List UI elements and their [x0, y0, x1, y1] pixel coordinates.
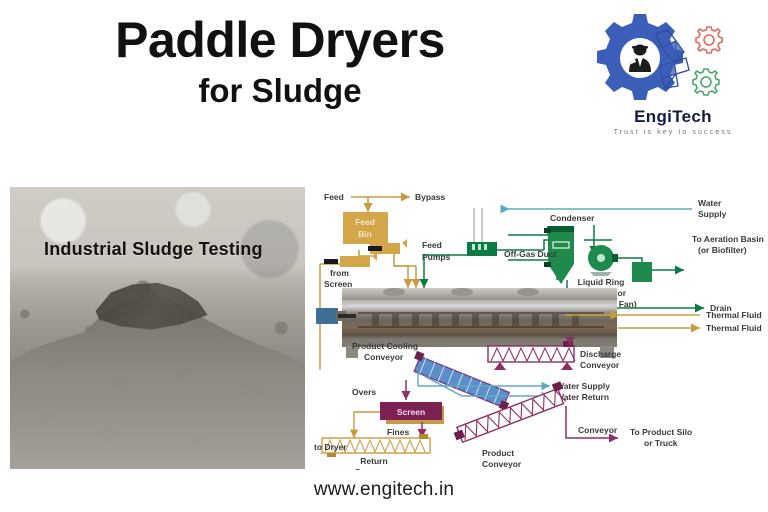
dryer-shaft — [338, 314, 356, 318]
compressor-hub — [597, 254, 605, 262]
feed-valve-2 — [402, 239, 407, 248]
label-overs: Overs — [352, 387, 376, 397]
label-compressor-line1: Liquid Ring — [578, 277, 625, 287]
label-thermal-supply: Thermal Fluid (or Steam) Supply — [706, 310, 764, 320]
label-silo-line2: or Truck — [644, 438, 678, 448]
overs-line — [354, 412, 380, 438]
logo-tagline: Trust is key to success — [588, 129, 758, 136]
label-water-supply-2: Water Supply — [556, 381, 610, 391]
label-from-screen-line2: Screen — [324, 279, 352, 289]
dryer-highlight — [348, 304, 612, 307]
label-water-return: Water Return — [556, 392, 609, 402]
logo-mark — [588, 8, 758, 108]
poster-canvas: Paddle Dryers for Sludge — [0, 0, 768, 512]
brand-logo[interactable]: EngiTech Trust is key to success — [588, 8, 758, 148]
feed-pump-1 — [340, 256, 370, 267]
small-green-gear-icon — [693, 69, 719, 95]
label-discharge-line1: Discharge — [580, 349, 621, 359]
label-feed-bin-line1: Feed — [355, 217, 375, 227]
condenser-nozzle-bottom — [544, 262, 551, 267]
label-cooling-line2: Conveyor — [364, 352, 404, 362]
label-water-supply-line2: Supply — [698, 209, 727, 219]
logo-wordmark: EngiTech — [588, 107, 758, 127]
label-feed-bin-line2: Bin — [358, 229, 372, 239]
label-water-supply-line1: Water — [698, 198, 722, 208]
label-screen: Screen — [397, 407, 425, 417]
small-red-gear-icon — [696, 27, 722, 53]
label-product-conveyor-line2: Conveyor — [482, 459, 522, 469]
label-bypass: Bypass — [415, 192, 446, 202]
label-off-gas-duct: Off-Gas Duct — [504, 249, 557, 259]
compressor-outlet — [612, 254, 618, 262]
title-primary: Paddle Dryers — [0, 14, 560, 67]
duct-louver-3 — [484, 244, 487, 250]
label-feed-pumps-line1: Feed — [422, 240, 442, 250]
label-return-line1: Return — [360, 456, 387, 466]
dryer-top-deck — [342, 288, 617, 302]
photo-caption: Industrial Sludge Testing — [44, 239, 263, 260]
condenser-head — [548, 226, 574, 232]
feed-pump-motor-2 — [368, 246, 382, 251]
label-discharge-line2: Conveyor — [580, 360, 620, 370]
label-conveyor: Conveyor — [578, 425, 618, 435]
footer-url[interactable]: www.engitech.in — [0, 479, 768, 501]
dryer-drive-motor — [316, 308, 338, 324]
label-condenser: Condenser — [550, 213, 595, 223]
label-product-conveyor-line1: Product — [482, 448, 514, 458]
page-title: Paddle Dryers for Sludge — [0, 14, 560, 109]
separator-vessel — [632, 262, 652, 282]
label-aeration-line1: To Aeration Basin — [692, 234, 764, 244]
offgas-stack-pipes — [474, 208, 482, 242]
label-cooling-line1: Product Cooling — [352, 341, 418, 351]
overs-lines — [354, 412, 380, 438]
label-return-line2: Conveyor — [354, 467, 394, 470]
label-silo-line1: To Product Silo — [630, 427, 692, 437]
label-aeration-line2: (or Biofilter) — [698, 245, 747, 255]
label-to-dryer: to Dryer — [314, 442, 347, 452]
off-gas-duct — [467, 242, 497, 256]
compressor-base — [590, 272, 612, 276]
duct-louver-2 — [478, 244, 481, 250]
duct-louver-1 — [472, 244, 475, 250]
label-feed-pumps-line2: Pumps — [422, 252, 451, 262]
condenser-nozzle-top — [544, 228, 551, 233]
label-feed: Feed — [324, 192, 344, 202]
process-flow-diagram: Feed Bypass Feed Bin Feed Pumps from Scr… — [312, 180, 764, 470]
label-fines: Fines — [387, 427, 409, 437]
label-thermal-return: Thermal Fluid (or Steam) Return — [706, 323, 764, 333]
feed-pump-motor-1 — [324, 259, 338, 264]
title-secondary: for Sludge — [0, 73, 560, 109]
sludge-photo: Industrial Sludge Testing — [10, 187, 305, 469]
label-from-screen-line1: from — [330, 268, 349, 278]
